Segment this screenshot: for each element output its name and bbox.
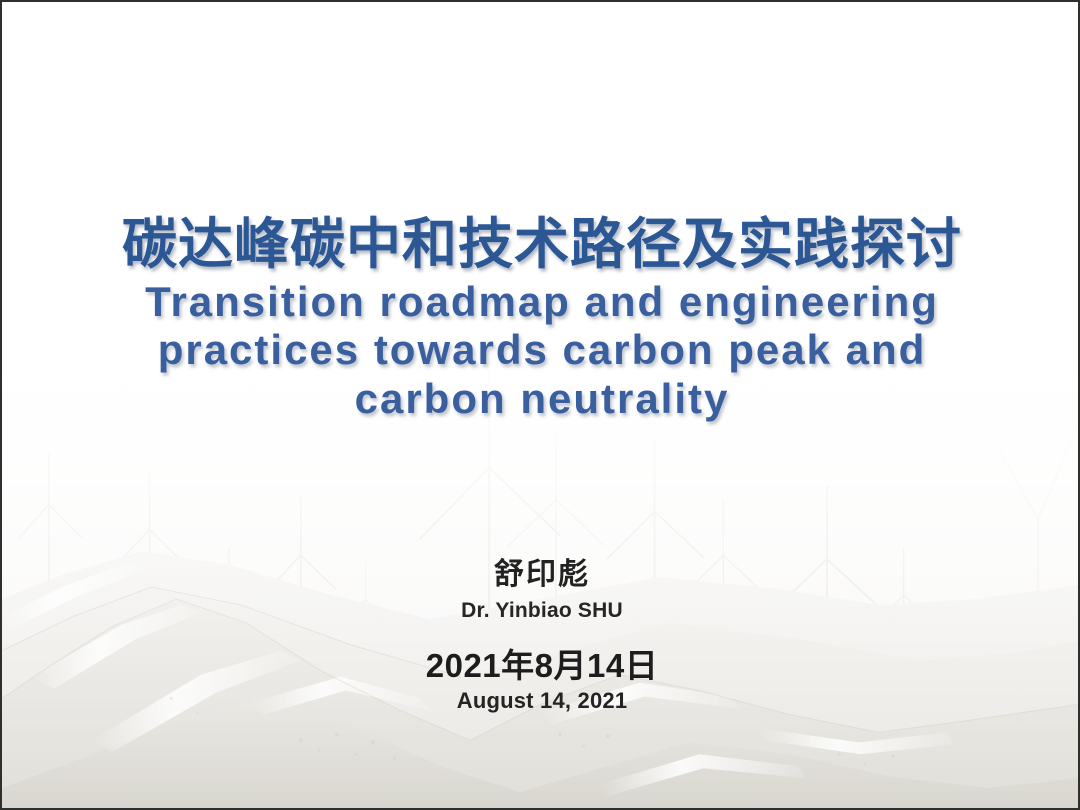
slide-title-english-line-2: practices towards carbon peak and <box>68 326 1016 375</box>
slide-title-english-line-3: carbon neutrality <box>68 375 1016 424</box>
author-block: 舒印彪 Dr. Yinbiao SHU <box>2 558 1080 623</box>
slide-title-english: Transition roadmap and engineering pract… <box>2 278 1080 424</box>
title-slide: 碳达峰碳中和技术路径及实践探讨 Transition roadmap and e… <box>0 0 1080 810</box>
date-block: 2021年8月14日 August 14, 2021 <box>2 648 1080 714</box>
slide-title-english-line-1: Transition roadmap and engineering <box>68 278 1016 327</box>
title-block: 碳达峰碳中和技术路径及实践探讨 Transition roadmap and e… <box>2 216 1080 424</box>
author-name-chinese: 舒印彪 <box>2 558 1080 592</box>
slide-content: 碳达峰碳中和技术路径及实践探讨 Transition roadmap and e… <box>2 2 1078 808</box>
author-name-english: Dr. Yinbiao SHU <box>2 599 1080 623</box>
presentation-date-chinese: 2021年8月14日 <box>2 648 1080 684</box>
presentation-date-english: August 14, 2021 <box>2 688 1080 713</box>
slide-title-chinese: 碳达峰碳中和技术路径及实践探讨 <box>2 216 1080 274</box>
